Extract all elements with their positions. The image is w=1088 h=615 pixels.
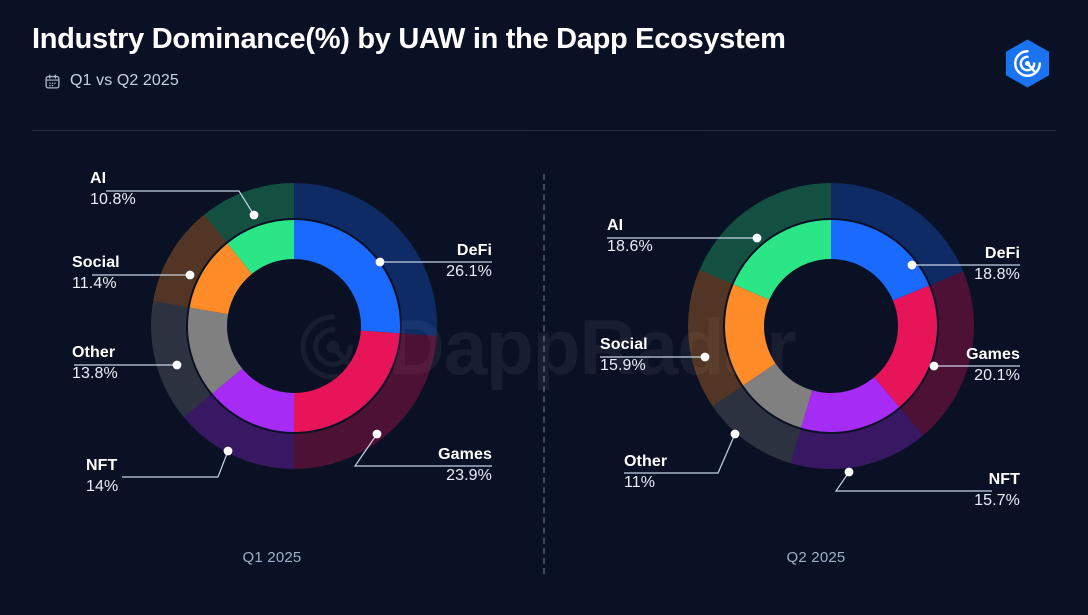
label-name: NFT bbox=[86, 456, 118, 476]
chart-caption-q1: Q1 2025 bbox=[0, 549, 544, 566]
label-q2-ai: AI 18.6% bbox=[607, 216, 653, 258]
dappradar-logo-icon bbox=[1002, 38, 1053, 89]
label-q1-defi: DeFi 26.1% bbox=[392, 241, 492, 283]
label-q1-other: Other 13.8% bbox=[72, 343, 118, 385]
label-value: 26.1% bbox=[392, 261, 492, 283]
infographic-card: Industry Dominance(%) by UAW in the Dapp… bbox=[0, 0, 1088, 615]
label-name: NFT bbox=[892, 470, 1020, 490]
label-q2-social: Social 15.9% bbox=[600, 335, 648, 377]
label-name: AI bbox=[90, 169, 136, 189]
label-q1-social: Social 11.4% bbox=[72, 253, 120, 295]
label-q1-nft: NFT 14% bbox=[86, 456, 118, 498]
charts-area: Q1 2025 Q2 2025 bbox=[0, 131, 1088, 615]
label-name: Games bbox=[372, 445, 492, 465]
label-q2-nft: NFT 15.7% bbox=[892, 470, 1020, 512]
header: Industry Dominance(%) by UAW in the Dapp… bbox=[0, 0, 1088, 131]
label-name: Other bbox=[624, 452, 667, 472]
label-q2-games: Games 20.1% bbox=[900, 345, 1020, 387]
label-value: 11% bbox=[624, 472, 667, 494]
calendar-icon bbox=[44, 73, 61, 90]
label-value: 10.8% bbox=[90, 189, 136, 211]
subtitle-text: Q1 vs Q2 2025 bbox=[70, 72, 179, 90]
label-q2-other: Other 11% bbox=[624, 452, 667, 494]
subtitle-row: Q1 vs Q2 2025 bbox=[44, 72, 179, 90]
chart-caption-q2: Q2 2025 bbox=[544, 549, 1088, 566]
label-q2-defi: DeFi 18.8% bbox=[920, 244, 1020, 286]
label-q1-games: Games 23.9% bbox=[372, 445, 492, 487]
donut-chart-q1 bbox=[149, 181, 439, 471]
label-value: 20.1% bbox=[900, 365, 1020, 387]
label-value: 13.8% bbox=[72, 363, 118, 385]
label-value: 15.7% bbox=[892, 490, 1020, 512]
label-name: Social bbox=[72, 253, 120, 273]
page-title: Industry Dominance(%) by UAW in the Dapp… bbox=[32, 23, 786, 56]
label-name: Other bbox=[72, 343, 118, 363]
label-q1-ai: AI 10.8% bbox=[90, 169, 136, 211]
label-name: Social bbox=[600, 335, 648, 355]
label-value: 23.9% bbox=[372, 465, 492, 487]
donut-chart-q2 bbox=[686, 181, 976, 471]
label-value: 18.8% bbox=[920, 264, 1020, 286]
label-name: DeFi bbox=[920, 244, 1020, 264]
label-value: 14% bbox=[86, 476, 118, 498]
label-value: 18.6% bbox=[607, 236, 653, 258]
label-name: Games bbox=[900, 345, 1020, 365]
label-name: DeFi bbox=[392, 241, 492, 261]
label-value: 15.9% bbox=[600, 355, 648, 377]
label-name: AI bbox=[607, 216, 653, 236]
label-value: 11.4% bbox=[72, 273, 120, 295]
